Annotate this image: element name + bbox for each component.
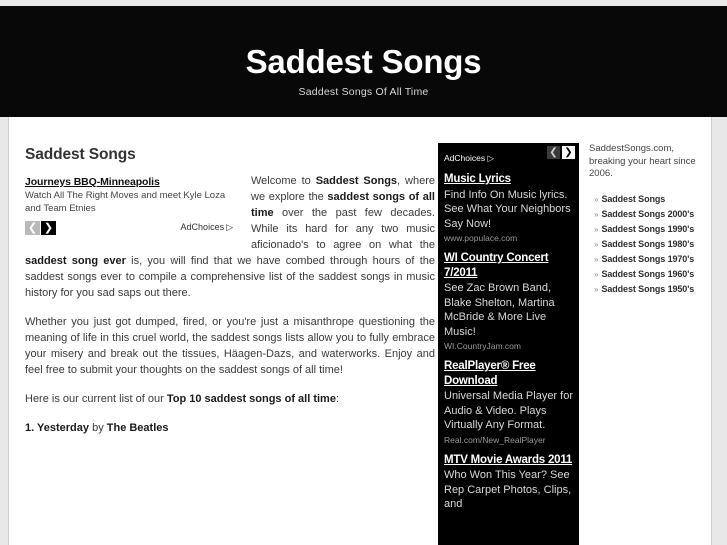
ad-unit-list: Music Lyrics Find Info On Music lyrics. … xyxy=(438,165,579,512)
second-paragraph: Whether you just got dumped, fired, or y… xyxy=(25,314,435,378)
sidebar-item-label: Saddest Songs 2000's xyxy=(601,209,694,219)
ad-unit-adchoices[interactable]: AdChoices ▷ xyxy=(444,153,494,163)
song-artist: The Beatles xyxy=(107,422,169,434)
inline-adchoices-label: AdChoices xyxy=(181,222,225,232)
sidebar-item-label: Saddest Songs 1970's xyxy=(601,254,694,264)
sidebar-item-label: Saddest Songs 1980's xyxy=(601,239,694,249)
adchoices-triangle-icon: ▷ xyxy=(226,222,233,233)
ad-entry-title-link[interactable]: WI Country Concert 7/2011 xyxy=(444,251,574,280)
main-content-column: Saddest Songs Journeys BBQ-Minneapolis W… xyxy=(25,117,435,449)
sidebar-item-1980s[interactable]: »Saddest Songs 1980's xyxy=(594,237,711,252)
inline-adchoices-link[interactable]: AdChoices▷ xyxy=(181,222,233,233)
list-intro-c: : xyxy=(336,393,339,405)
ad-entry-url: www.populace.com xyxy=(444,232,574,244)
ad-unit-header: AdChoices ▷ ❮ ❯ xyxy=(438,143,579,165)
song-rank-title: 1. Yesterday xyxy=(25,422,89,434)
chevron-right-icon[interactable]: ❯ xyxy=(562,146,575,159)
ad-entry-description: Who Won This Year? See Rep Carpet Photos… xyxy=(444,468,574,512)
site-title: Saddest Songs xyxy=(0,43,727,81)
chevron-left-icon[interactable]: ❮ xyxy=(547,146,560,159)
sidebar-item-2000s[interactable]: »Saddest Songs 2000's xyxy=(594,207,711,222)
bullet-icon: » xyxy=(594,270,598,279)
ad-entry-description: Universal Media Player for Audio & Video… xyxy=(444,389,574,433)
list-intro-paragraph: Here is our current list of our Top 10 s… xyxy=(25,391,435,407)
sidebar-item-1960s[interactable]: »Saddest Songs 1960's xyxy=(594,267,711,282)
sidebar-ad-unit: AdChoices ▷ ❮ ❯ Music Lyrics Find Info O… xyxy=(438,143,579,545)
sidebar-item-label: Saddest Songs 1950's xyxy=(601,284,694,294)
chevron-left-icon[interactable]: ❮ xyxy=(25,221,40,235)
sidebar-item-1970s[interactable]: »Saddest Songs 1970's xyxy=(594,252,711,267)
site-header: Saddest Songs Saddest Songs Of All Time xyxy=(0,6,727,117)
ad-entry: Music Lyrics Find Info On Music lyrics. … xyxy=(444,172,574,244)
site-subtitle: Saddest Songs Of All Time xyxy=(0,86,727,98)
list-intro-a: Here is our current list of our xyxy=(25,393,167,405)
bullet-icon: » xyxy=(594,255,598,264)
sidebar-item-label: Saddest Songs 1960's xyxy=(601,269,694,279)
list-intro-bold: Top 10 saddest songs of all time xyxy=(167,393,336,405)
intro-bold-3: saddest song ever xyxy=(25,255,126,267)
ad-entry-url: Real.com/New_RealPlayer xyxy=(444,434,574,446)
song-list-item: 1. Yesterday by The Beatles xyxy=(25,420,435,436)
ad-entry-description: See Zac Brown Band, Blake Shelton, Marti… xyxy=(444,281,574,339)
sidebar-item-label: Saddest Songs xyxy=(601,194,665,204)
bullet-icon: » xyxy=(594,240,598,249)
sidebar-item-1950s[interactable]: »Saddest Songs 1950's xyxy=(594,282,711,297)
sidebar-item-1990s[interactable]: »Saddest Songs 1990's xyxy=(594,222,711,237)
bullet-icon: » xyxy=(594,210,598,219)
bullet-icon: » xyxy=(594,195,598,204)
inline-ad-description: Watch All The Right Moves and meet Kyle … xyxy=(25,190,233,215)
chevron-right-icon[interactable]: ❯ xyxy=(41,221,56,235)
bullet-icon: » xyxy=(594,285,598,294)
page-title: Saddest Songs xyxy=(25,146,435,164)
song-by-word: by xyxy=(89,422,107,434)
ad-entry: RealPlayer® Free Download Universal Medi… xyxy=(444,359,574,446)
sidebar-nav-list: »Saddest Songs »Saddest Songs 2000's »Sa… xyxy=(589,192,711,297)
sidebar-item-saddest-songs[interactable]: »Saddest Songs xyxy=(594,192,711,207)
ad-entry-title-link[interactable]: Music Lyrics xyxy=(444,172,574,187)
content-shell: Saddest Songs Journeys BBQ-Minneapolis W… xyxy=(8,117,712,545)
intro-bold-1: Saddest Songs xyxy=(316,175,397,187)
inline-ad-footer: ❮ ❯ AdChoices▷ xyxy=(25,221,233,236)
inline-ad-pager: ❮ ❯ xyxy=(25,221,56,235)
ad-entry-title-link[interactable]: MTV Movie Awards 2011 xyxy=(444,453,574,468)
bullet-icon: » xyxy=(594,225,598,234)
intro-text-a: Welcome to xyxy=(251,175,316,187)
ad-entry: MTV Movie Awards 2011 Who Won This Year?… xyxy=(444,453,574,512)
inline-text-ad: Journeys BBQ-Minneapolis Watch All The R… xyxy=(25,175,233,236)
ad-unit-pager: ❮ ❯ xyxy=(547,146,575,159)
ad-entry-description: Find Info On Music lyrics. See What Your… xyxy=(444,188,574,232)
right-sidebar: SaddestSongs.com, breaking your heart si… xyxy=(589,117,711,297)
adchoices-triangle-icon: ▷ xyxy=(487,153,494,163)
ad-unit-adchoices-label: AdChoices xyxy=(444,153,485,163)
inline-ad-headline-link[interactable]: Journeys BBQ-Minneapolis xyxy=(25,175,233,189)
ad-entry-title-link[interactable]: RealPlayer® Free Download xyxy=(444,359,574,388)
sidebar-item-label: Saddest Songs 1990's xyxy=(601,224,694,234)
site-tagline: SaddestSongs.com, breaking your heart si… xyxy=(589,143,707,181)
ad-entry-url: WI.CountryJam.com xyxy=(444,340,574,352)
intro-text-c: over the past few decades. While its har… xyxy=(251,207,435,251)
ad-entry: WI Country Concert 7/2011 See Zac Brown … xyxy=(444,251,574,352)
page-root: Saddest Songs Saddest Songs Of All Time … xyxy=(0,0,727,545)
